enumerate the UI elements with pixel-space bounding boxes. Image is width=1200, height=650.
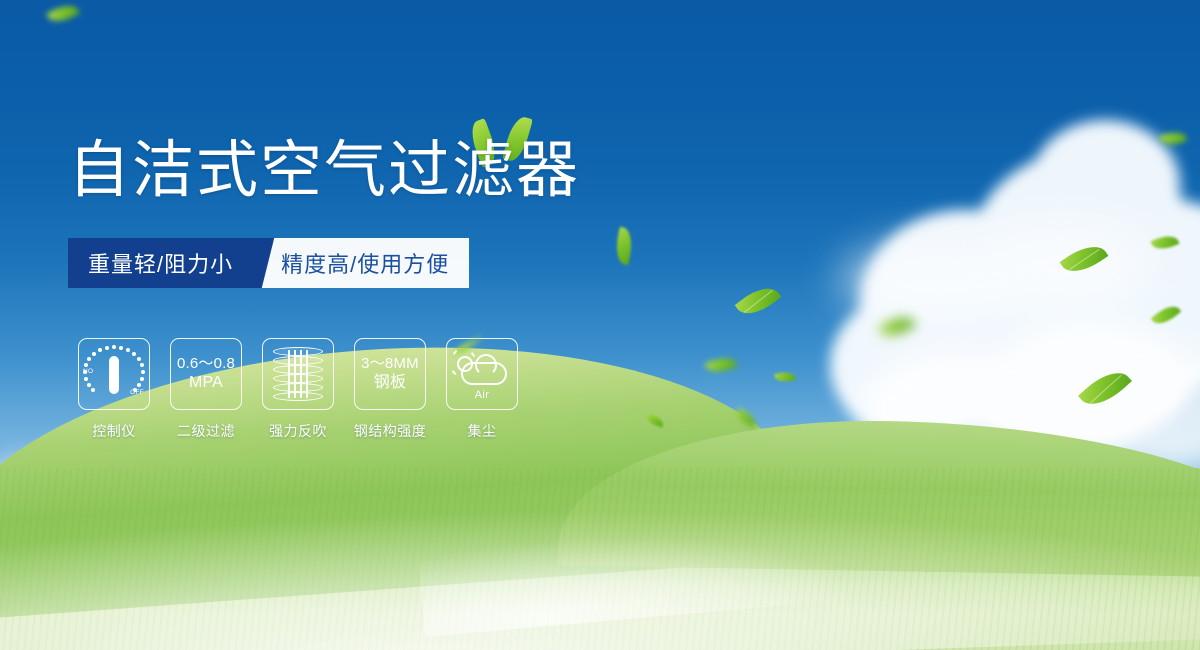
steel-thickness: 3～8MM	[361, 355, 419, 374]
page-title: 自洁式空气过滤器	[68, 140, 580, 202]
air-label: Air	[453, 389, 511, 401]
subtitle-bar: 重量轻/阻力小 精度高/使用方便	[68, 238, 469, 288]
feature-icon-box: Air	[446, 338, 518, 410]
feature-item-controller[interactable]: NO OFF 控制仪	[78, 338, 150, 441]
subtitle-left: 重量轻/阻力小	[68, 238, 255, 288]
subtitle-right: 精度高/使用方便	[255, 238, 469, 288]
feature-icon-box: 3～8MM 钢板	[354, 338, 426, 410]
feature-item-dust[interactable]: Air 集尘	[446, 338, 518, 441]
feature-icon-box: 0.6～0.8 MPA	[170, 338, 242, 410]
feature-item-pressure[interactable]: 0.6～0.8 MPA 二级过滤	[170, 338, 242, 441]
feature-item-backblow[interactable]: 强力反吹	[262, 338, 334, 441]
feature-icon-box	[262, 338, 334, 410]
feature-list: NO OFF 控制仪 0.6～0.8 MPA 二级过滤	[78, 338, 518, 441]
pressure-unit: MPA	[177, 373, 235, 393]
pressure-text-icon: 0.6～0.8 MPA	[177, 355, 235, 394]
gauge-dial-icon: NO OFF	[83, 345, 145, 403]
steel-material: 钢板	[361, 373, 419, 393]
coil-filter-icon	[273, 347, 323, 401]
feature-item-steel[interactable]: 3～8MM 钢板 钢结构强度	[354, 338, 426, 441]
feature-label: 钢结构强度	[354, 421, 427, 441]
feature-icon-box: NO OFF	[78, 338, 150, 410]
pressure-range: 0.6～0.8	[177, 355, 235, 374]
feature-label: 强力反吹	[269, 421, 327, 441]
promo-banner: 自洁式空气过滤器 重量轻/阻力小 精度高/使用方便	[0, 0, 1200, 650]
feature-label: 集尘	[468, 421, 497, 441]
feature-label: 二级过滤	[177, 421, 235, 441]
gauge-off-label: OFF	[130, 389, 144, 396]
gauge-no-label: NO	[83, 368, 93, 375]
feature-label: 控制仪	[92, 421, 136, 441]
steel-plate-text-icon: 3～8MM 钢板	[361, 355, 419, 394]
air-cloud-icon: Air	[453, 348, 511, 400]
